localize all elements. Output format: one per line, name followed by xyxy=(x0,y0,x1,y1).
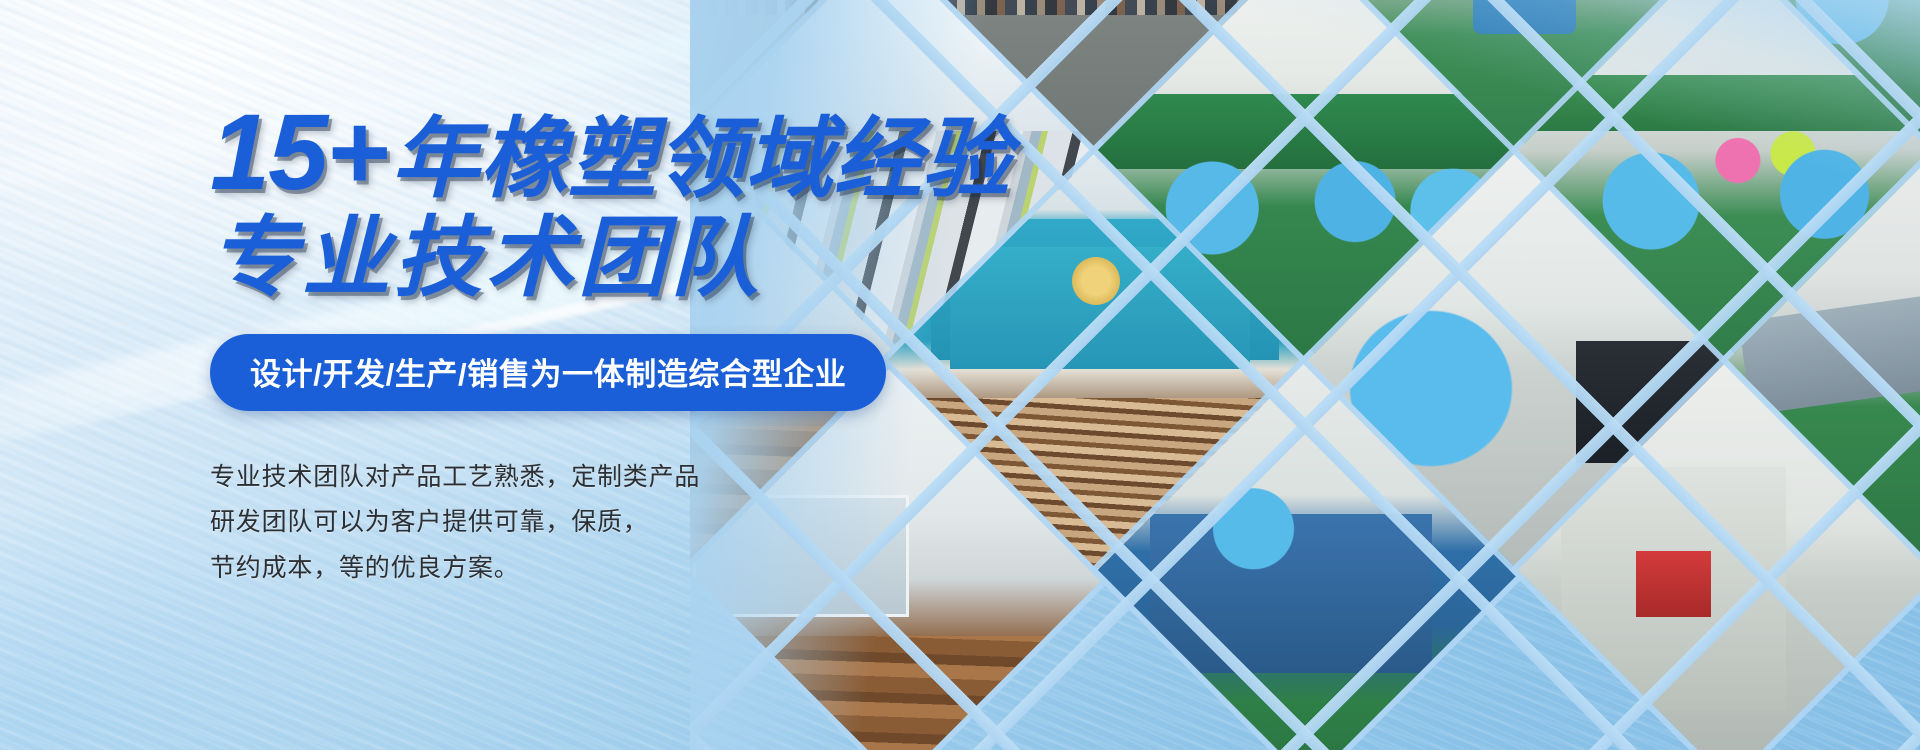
headline-line-1: 15+年橡塑领域经验 xyxy=(210,96,990,207)
headline-line-2: 专业技术团队 xyxy=(210,213,990,304)
tagline-pill-badge: 设计/开发/生产/销售为一体制造综合型企业 xyxy=(210,334,886,411)
headline-years-number: 15+ xyxy=(210,91,387,212)
headline: 15+年橡塑领域经验 专业技术团队 xyxy=(210,96,990,304)
description-line-2: 研发团队可以为客户提供可靠，保质， xyxy=(210,500,990,546)
headline-line-1-text: 年橡塑领域经验 xyxy=(391,109,1011,208)
promotional-banner: 15+年橡塑领域经验 专业技术团队 设计/开发/生产/销售为一体制造综合型企业 … xyxy=(0,0,1920,750)
description-line-3: 节约成本，等的优良方案。 xyxy=(210,546,990,592)
description-line-1: 专业技术团队对产品工艺熟悉，定制类产品 xyxy=(210,455,990,501)
banner-content: 15+年橡塑领域经验 专业技术团队 设计/开发/生产/销售为一体制造综合型企业 … xyxy=(210,96,990,591)
company-logo-mark xyxy=(1072,257,1120,305)
description-paragraph: 专业技术团队对产品工艺熟悉，定制类产品 研发团队可以为客户提供可靠，保质， 节约… xyxy=(210,455,990,592)
